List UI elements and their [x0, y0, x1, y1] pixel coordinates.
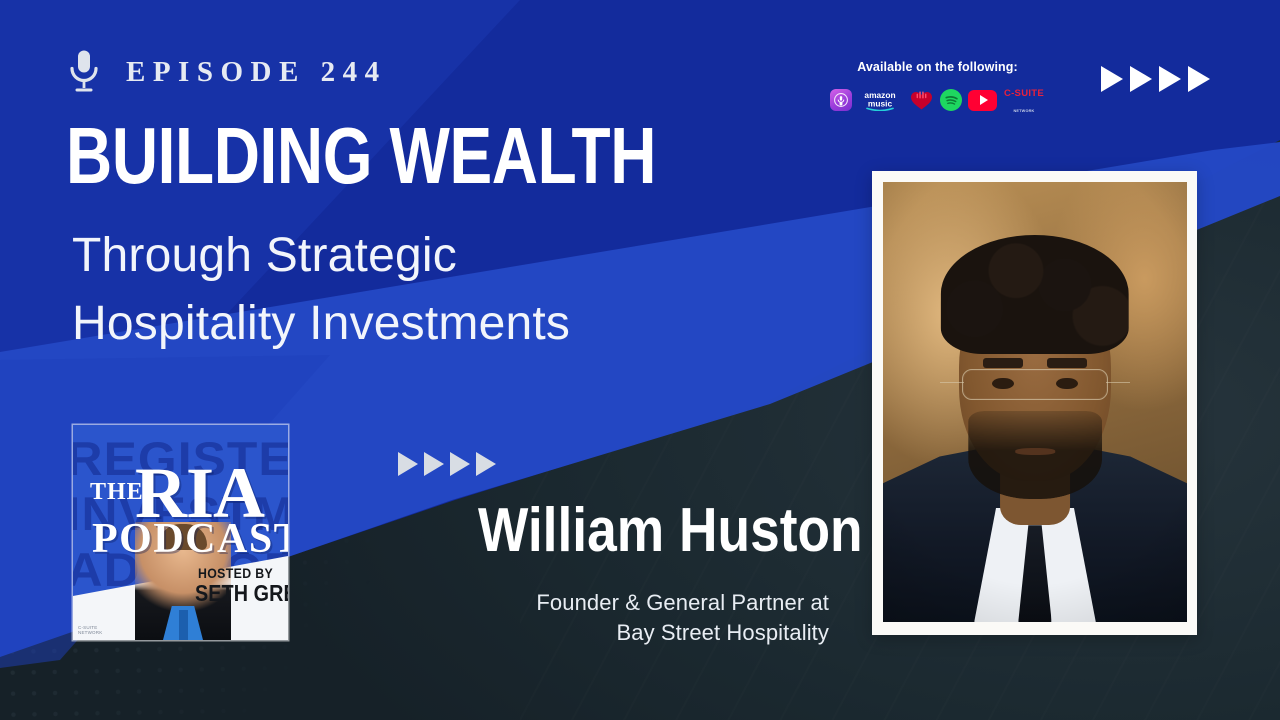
episode-graphic: EPISODE 244 Available on the following: — [0, 0, 1280, 720]
header-arrow-group — [1101, 66, 1210, 92]
platform-spotify[interactable] — [940, 89, 962, 111]
arrow-right-icon — [1159, 66, 1181, 92]
youtube-icon — [968, 90, 997, 111]
platform-youtube[interactable] — [968, 90, 997, 111]
available-on-block: Available on the following: amazon m — [830, 60, 1045, 116]
guest-arrow-group — [398, 452, 496, 476]
available-on-title: Available on the following: — [830, 60, 1045, 74]
episode-title-sub: Through Strategic Hospitality Investment… — [72, 222, 570, 358]
arrow-right-icon — [476, 452, 496, 476]
episode-row: EPISODE 244 — [68, 49, 387, 95]
amazon-music-icon: amazon music — [858, 89, 902, 111]
c-suite-network-icon: C-SUITE NETWORK — [1003, 84, 1045, 116]
microphone-icon — [68, 49, 100, 95]
arrow-right-icon — [1130, 66, 1152, 92]
arrow-right-icon — [424, 452, 444, 476]
arrow-right-icon — [450, 452, 470, 476]
platform-amazon-music[interactable]: amazon music — [858, 89, 902, 111]
apple-podcasts-icon — [830, 89, 852, 111]
play-triangle-icon — [980, 95, 988, 105]
arrow-right-icon — [1101, 66, 1123, 92]
logo-hosted-by-label: HOSTED BY — [198, 565, 273, 581]
c-suite-subtext: NETWORK — [1013, 109, 1034, 113]
platform-c-suite-network[interactable]: C-SUITE NETWORK — [1003, 84, 1045, 116]
platform-iheartradio[interactable] — [908, 89, 934, 111]
iheartradio-icon — [908, 89, 934, 111]
arrow-right-icon — [1188, 66, 1210, 92]
guest-role: Founder & General Partner at Bay Street … — [0, 588, 860, 647]
guest-name: William Huston — [478, 500, 863, 562]
svg-text:music: music — [868, 98, 893, 108]
platform-apple-podcasts[interactable] — [830, 89, 852, 111]
episode-label: EPISODE 244 — [126, 56, 387, 89]
episode-title-main: BUILDING WEALTH — [66, 119, 656, 193]
spotify-icon — [940, 89, 962, 111]
logo-podcast-text: PODCAST — [92, 518, 288, 560]
platform-icon-row: amazon music — [830, 84, 1045, 116]
guest-photo-frame — [872, 171, 1197, 635]
photo-vignette — [883, 182, 1187, 622]
guest-headshot — [883, 182, 1187, 622]
arrow-right-icon — [398, 452, 418, 476]
c-suite-wordmark: C-SUITE — [1004, 88, 1044, 99]
